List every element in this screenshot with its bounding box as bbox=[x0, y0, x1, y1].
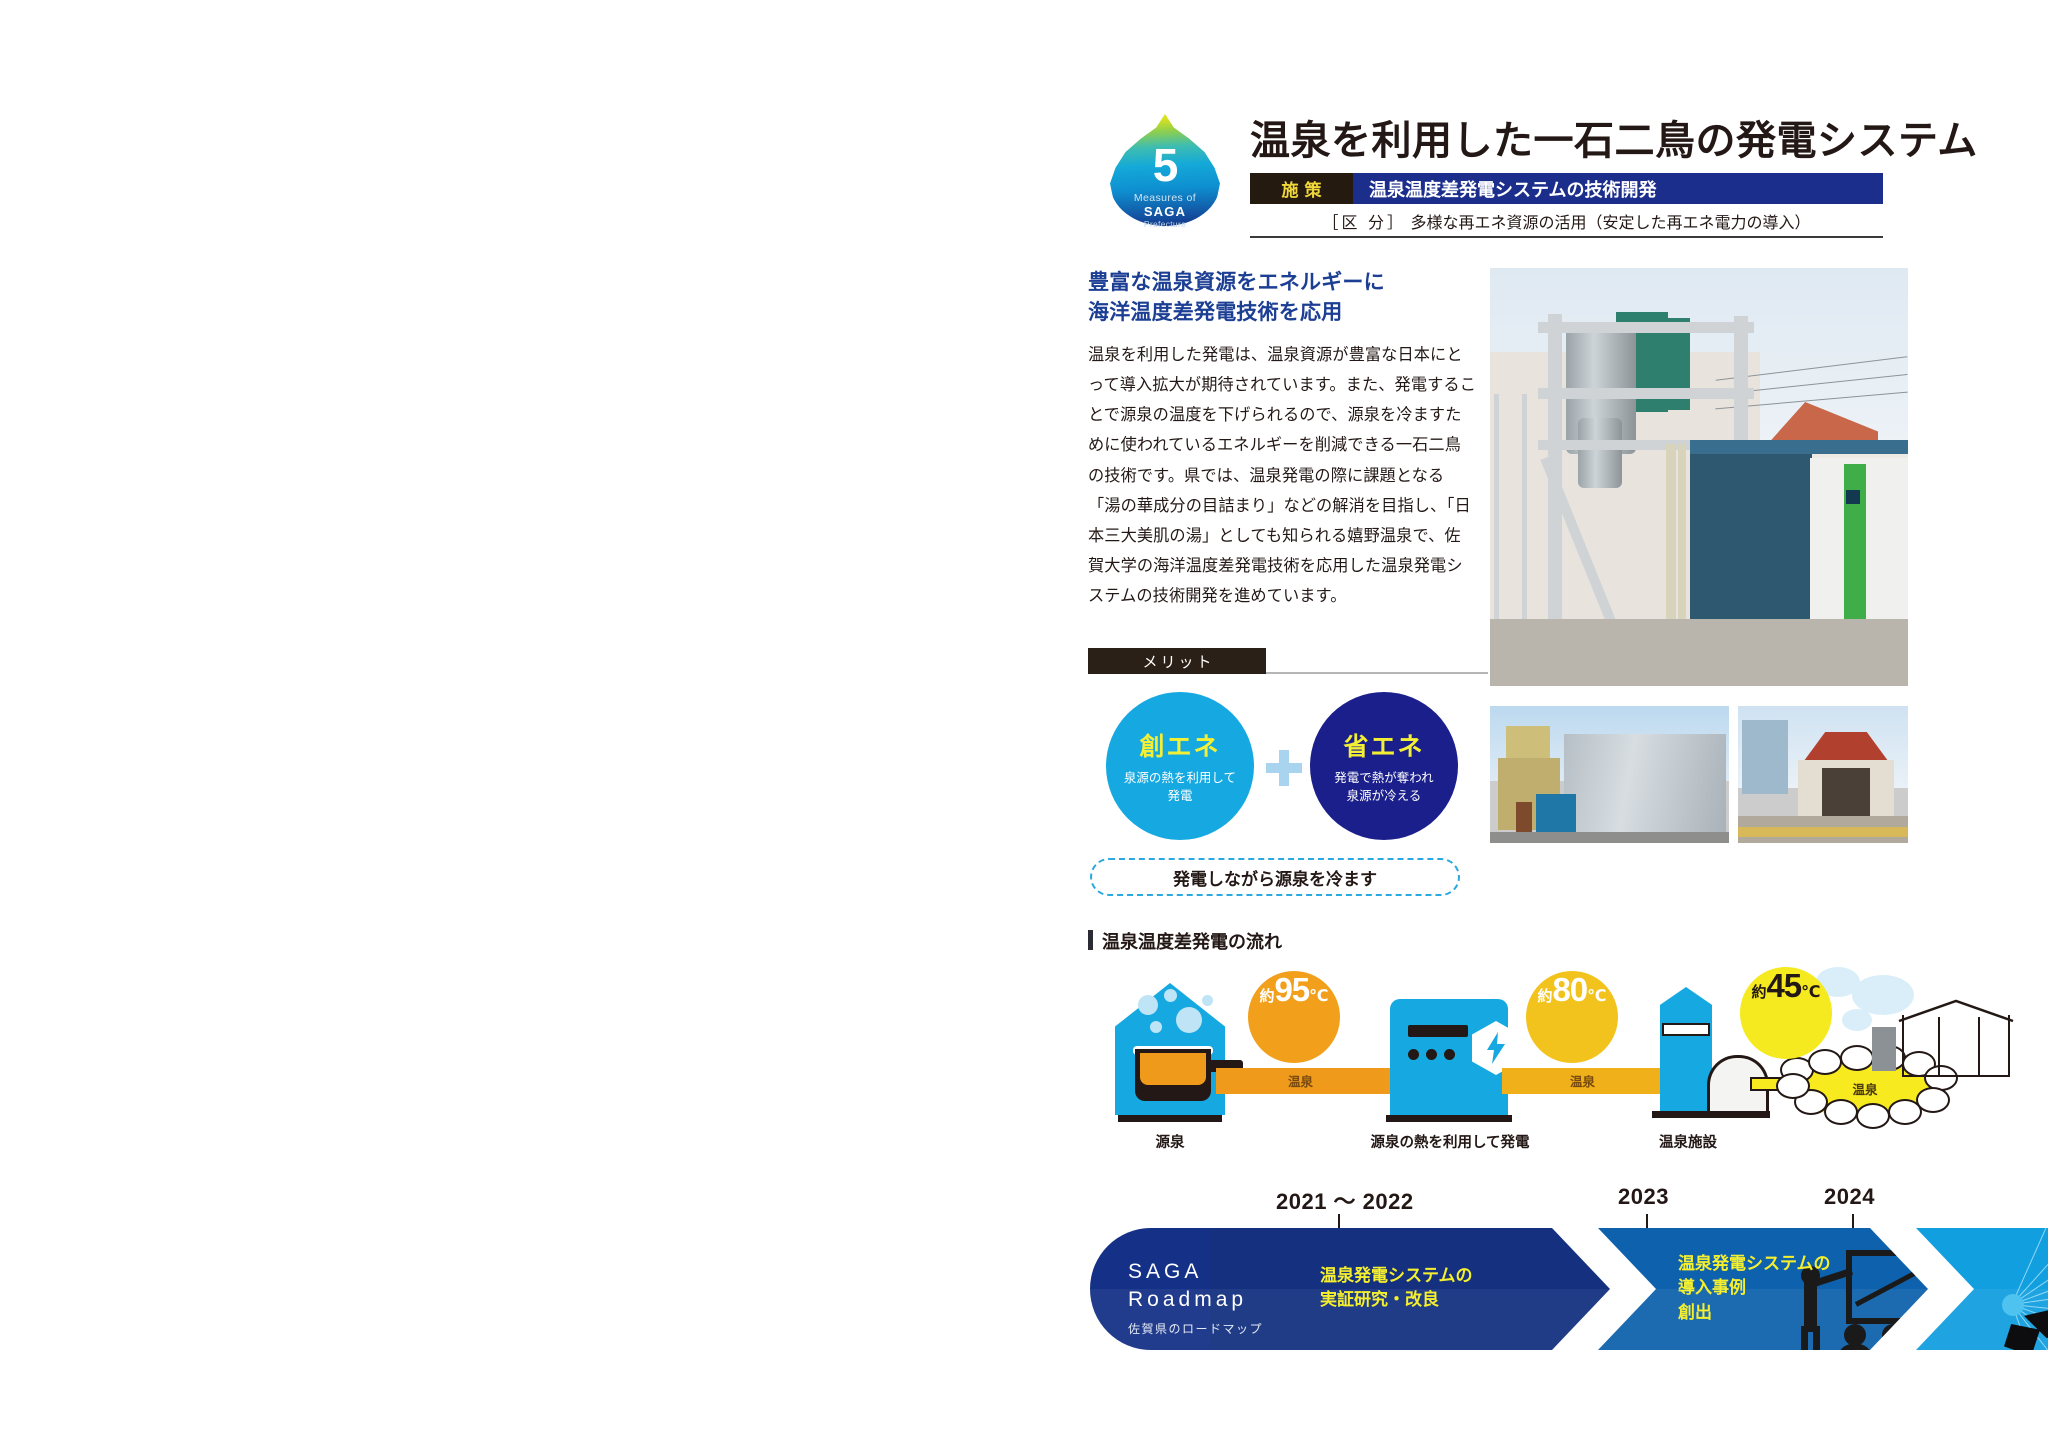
policy-row: 施策 温泉温度差発電システムの技術開発 bbox=[1250, 173, 1883, 204]
audience-body-icon bbox=[1876, 1344, 1910, 1362]
photo-blue-container bbox=[1536, 794, 1576, 834]
cloud-icon bbox=[1842, 1009, 1872, 1031]
flow-section-title: 温泉温度差発電の流れ bbox=[1088, 928, 1282, 954]
generator-indicator bbox=[1426, 1049, 1437, 1060]
source-base-plate bbox=[1118, 1115, 1222, 1122]
lead-line-1: 豊富な温泉資源をエネルギーに bbox=[1088, 268, 1508, 298]
photo-screen bbox=[1846, 490, 1860, 504]
pool-stone bbox=[1840, 1045, 1874, 1071]
temp-value: 80 bbox=[1552, 971, 1587, 1009]
photo-fence bbox=[1738, 827, 1908, 837]
lead-heading: 豊富な温泉資源をエネルギーに 海洋温度差発電技術を応用 bbox=[1088, 268, 1508, 328]
roadmap-segment-3 bbox=[1916, 1228, 2048, 1350]
document-page: 5 Measures of SAGA Prefecture 温泉を利用した一石二… bbox=[0, 0, 2048, 1448]
facility-base-plate bbox=[1652, 1111, 1770, 1118]
merit-circles: 創エネ 泉源の熱を利用して 発電 省エネ 発電で熱が奪われ 泉源が冷える bbox=[1088, 692, 1488, 844]
badge-line1: Measures of bbox=[1105, 192, 1225, 204]
flow-label-facility: 温泉施設 bbox=[1628, 1131, 1748, 1152]
generator-base-plate bbox=[1386, 1115, 1512, 1122]
audience-head-icon bbox=[1844, 1324, 1866, 1346]
pool-stone bbox=[1856, 1103, 1890, 1129]
audience-body-icon bbox=[1838, 1344, 1872, 1362]
photo-silver-wall bbox=[1564, 734, 1726, 834]
photo-tank bbox=[1578, 418, 1622, 488]
merit-callout: 発電しながら源泉を冷ます bbox=[1090, 858, 1460, 896]
pool-stone bbox=[1888, 1099, 1922, 1125]
merit-header: メリット bbox=[1088, 648, 1488, 674]
roadmap-tick bbox=[1338, 1214, 1340, 1228]
badge-line2: SAGA bbox=[1105, 204, 1225, 219]
photo-site-exterior bbox=[1490, 706, 1729, 843]
body-text: 温泉を利用した発電は、温泉資源が豊富な日本にとって導入拡大が期待されています。ま… bbox=[1088, 340, 1476, 611]
bubble-icon bbox=[1176, 1007, 1202, 1033]
house-chimney bbox=[1872, 1027, 1896, 1071]
roadmap-tick bbox=[1646, 1214, 1648, 1228]
pipe-label-1: 温泉 bbox=[1288, 1071, 1313, 1090]
photo-onsen-gate bbox=[1738, 706, 1908, 843]
photo-hotel bbox=[1742, 720, 1788, 794]
generator-vent bbox=[1408, 1025, 1468, 1037]
merit-rule bbox=[1266, 672, 1488, 674]
pool-stone bbox=[1808, 1049, 1842, 1075]
policy-text: 温泉温度差発電システムの技術開発 bbox=[1353, 173, 1883, 204]
temp-value: 95 bbox=[1274, 971, 1309, 1009]
photo-frame-beam bbox=[1538, 322, 1754, 333]
pool-stone bbox=[1824, 1099, 1858, 1125]
temp-unit: ℃ bbox=[1587, 986, 1606, 1006]
facility-window bbox=[1662, 1023, 1710, 1036]
body-paragraph: 温泉を利用した発電は、温泉資源が豊富な日本にとって導入拡大が期待されています。ま… bbox=[1088, 340, 1476, 611]
roadmap-brand-line-1: SAGA bbox=[1128, 1258, 1328, 1286]
temperature-badge-80: 約80℃ bbox=[1526, 971, 1618, 1063]
presenter-leg-icon bbox=[1813, 1326, 1820, 1352]
generator-indicator bbox=[1408, 1049, 1419, 1060]
category-line: ［区 分］ 多様な再エネ資源の活用（安定した再エネ電力の導入） bbox=[1250, 209, 1883, 233]
badge-line3: Prefecture bbox=[1105, 219, 1225, 229]
roadmap-segment-1-text: 温泉発電システムの実証研究・改良 bbox=[1320, 1264, 1473, 1313]
page-header: 5 Measures of SAGA Prefecture 温泉を利用した一石二… bbox=[1100, 100, 1900, 240]
roadmap-brand-sub: 佐賀県のロードマップ bbox=[1128, 1320, 1328, 1337]
bubble-icon bbox=[1150, 1021, 1162, 1033]
header-divider bbox=[1250, 236, 1883, 238]
merit-sub-line-2: 泉源が冷える bbox=[1334, 787, 1433, 805]
temp-unit: ℃ bbox=[1309, 986, 1328, 1006]
photo-main-plant bbox=[1490, 268, 1908, 686]
photo-ground bbox=[1490, 832, 1729, 843]
bubble-icon bbox=[1202, 995, 1213, 1006]
merit-tag: メリット bbox=[1088, 648, 1266, 674]
roadmap-brand-line-2: Roadmap bbox=[1128, 1286, 1328, 1314]
temp-unit: ℃ bbox=[1801, 982, 1820, 1002]
category-text: 多様な再エネ資源の活用（安定した再エネ電力の導入） bbox=[1410, 215, 1810, 232]
roadmap-year-3: 2024 bbox=[1824, 1184, 1875, 1210]
temp-prefix: 約 bbox=[1537, 985, 1552, 1006]
pot-liquid bbox=[1140, 1053, 1206, 1085]
presenter-leg-icon bbox=[1801, 1326, 1808, 1352]
measure-badge: 5 Measures of SAGA Prefecture bbox=[1105, 108, 1225, 233]
temperature-badge-45: 約45℃ bbox=[1740, 967, 1832, 1059]
merit-sub-line-1: 泉源の熱を利用して bbox=[1124, 769, 1236, 787]
policy-tag: 施策 bbox=[1250, 173, 1353, 204]
temperature-badge-95: 約95℃ bbox=[1248, 971, 1340, 1063]
house-body bbox=[1902, 1015, 2010, 1077]
flow-label-source: 源泉 bbox=[1110, 1131, 1230, 1152]
merit-circle-title: 創エネ bbox=[1139, 727, 1220, 763]
house-divider bbox=[1938, 1017, 1940, 1075]
merit-circle-sub: 泉源の熱を利用して 発電 bbox=[1124, 769, 1236, 805]
merit-circle-save-energy: 省エネ 発電で熱が奪われ 泉源が冷える bbox=[1310, 692, 1458, 840]
pipe-label-2: 温泉 bbox=[1570, 1071, 1595, 1090]
merit-circle-sub: 発電で熱が奪われ 泉源が冷える bbox=[1334, 769, 1433, 805]
roadmap-year-2: 2023 bbox=[1618, 1184, 1669, 1210]
onsen-facility-tower bbox=[1660, 987, 1712, 1115]
temp-value: 45 bbox=[1766, 967, 1801, 1005]
temp-prefix: 約 bbox=[1259, 985, 1274, 1006]
roadmap-years: 2021 〜 2022 2023 2024 bbox=[1090, 1184, 1920, 1230]
roadmap-tick bbox=[1852, 1214, 1854, 1228]
presentation-board-icon bbox=[1846, 1250, 1944, 1324]
pool-label: 温泉 bbox=[1830, 1079, 1900, 1098]
photo-ground bbox=[1490, 619, 1908, 686]
bubble-icon bbox=[1164, 989, 1177, 1002]
photo-frame-beam bbox=[1538, 388, 1754, 399]
audience-head-icon bbox=[1882, 1324, 1904, 1346]
flow-diagram: 温泉 温泉 温泉 bbox=[1090, 965, 1920, 1130]
merit-sub-line-1: 発電で熱が奪われ bbox=[1334, 769, 1433, 787]
merit-sub-line-2: 発電 bbox=[1124, 787, 1236, 805]
merit-circle-create-energy: 創エネ 泉源の熱を利用して 発電 bbox=[1106, 692, 1254, 840]
generator-indicator bbox=[1444, 1049, 1455, 1060]
water-drop-icon: 5 Measures of SAGA Prefecture bbox=[1105, 108, 1225, 233]
page-title: 温泉を利用した一石二鳥の発電システム bbox=[1250, 108, 1978, 166]
lead-line-2: 海洋温度差発電技術を応用 bbox=[1088, 298, 1508, 328]
temp-prefix: 約 bbox=[1751, 981, 1766, 1002]
merit-circle-title: 省エネ bbox=[1343, 727, 1424, 763]
photo-gate-opening bbox=[1822, 768, 1870, 820]
badge-number: 5 bbox=[1105, 142, 1225, 188]
roadmap-year-1: 2021 〜 2022 bbox=[1276, 1184, 1414, 1216]
pool-stone bbox=[1776, 1073, 1810, 1099]
plus-icon bbox=[1266, 750, 1302, 786]
roadmap-bar: SAGA Roadmap 佐賀県のロードマップ 温泉発電システムの実証研究・改良… bbox=[1090, 1228, 1920, 1350]
photo-container-top bbox=[1690, 440, 1908, 454]
photo-door bbox=[1516, 802, 1532, 834]
burst-center-icon bbox=[2002, 1294, 2024, 1316]
category-label: ［区 分］ bbox=[1323, 215, 1406, 232]
roadmap-brand: SAGA Roadmap 佐賀県のロードマップ bbox=[1128, 1258, 1328, 1337]
flow-label-generation: 源泉の熱を利用して発電 bbox=[1340, 1131, 1560, 1152]
merit-section: メリット bbox=[1088, 648, 1488, 674]
house-divider bbox=[1978, 1017, 1980, 1075]
roadmap-segment-2-text: 温泉発電システムの導入事例創出 bbox=[1678, 1252, 1831, 1325]
bubble-icon bbox=[1138, 995, 1158, 1015]
